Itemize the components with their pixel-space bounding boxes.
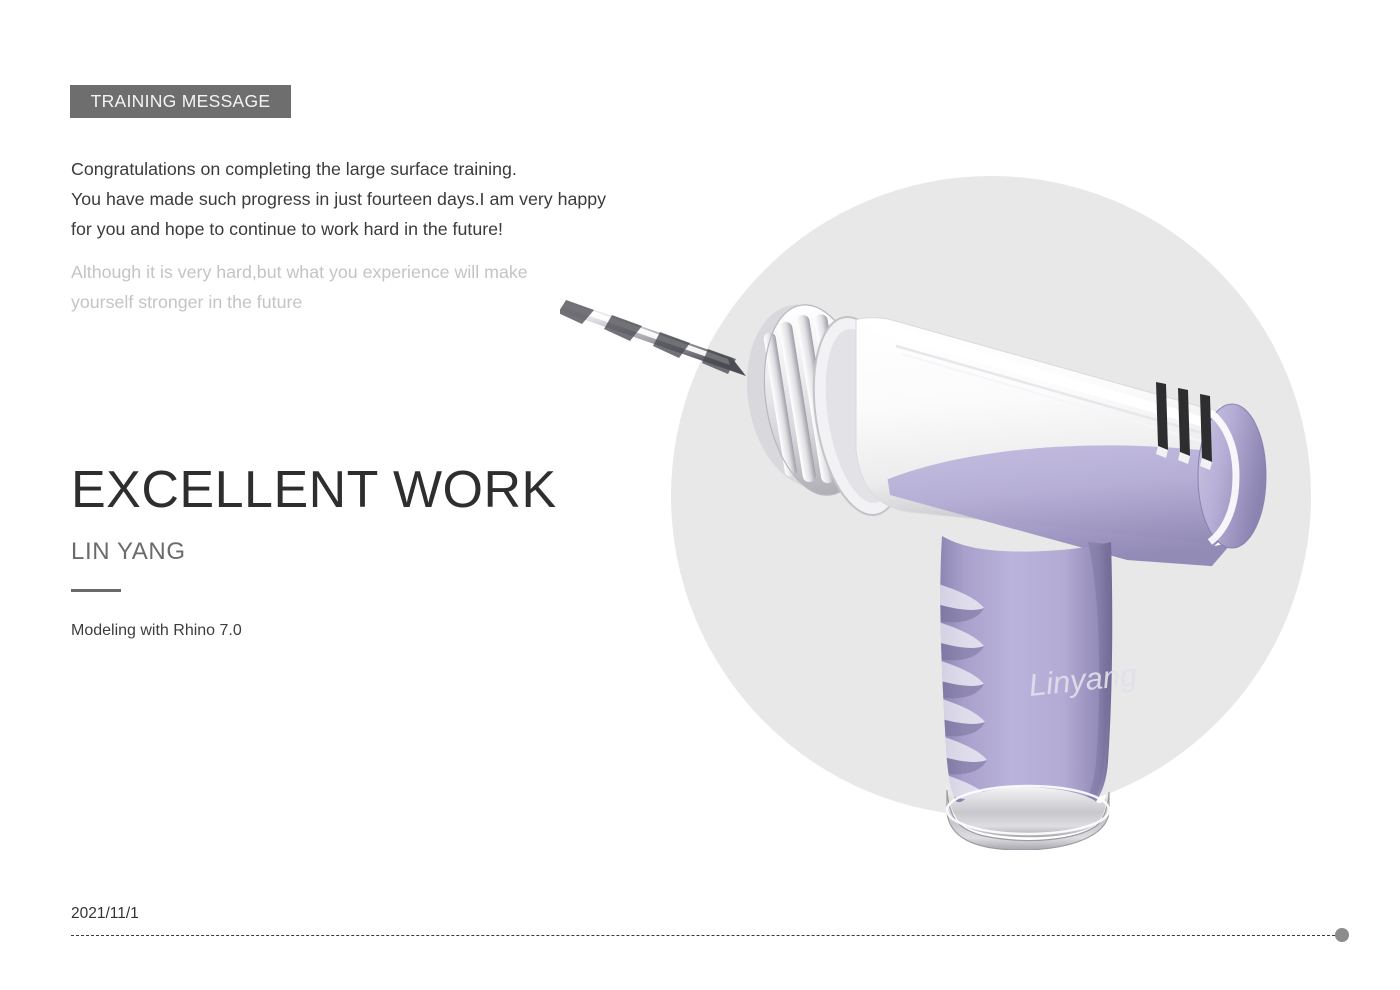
slide-root: TRAINING MESSAGE Congratulations on comp… bbox=[0, 0, 1400, 990]
badge-label: TRAINING MESSAGE bbox=[91, 91, 271, 112]
page-title: EXCELLENT WORK bbox=[71, 460, 557, 520]
footer-date: 2021/11/1 bbox=[71, 905, 139, 923]
training-message-badge: TRAINING MESSAGE bbox=[70, 85, 291, 118]
product-image: Linyang bbox=[560, 150, 1380, 850]
handle-base-ring bbox=[946, 782, 1109, 850]
title-divider bbox=[71, 589, 121, 592]
footer-end-dot bbox=[1335, 928, 1349, 942]
footer-dashed-line bbox=[71, 935, 1335, 936]
cordless-drill-illustration: Linyang bbox=[560, 150, 1380, 850]
software-caption: Modeling with Rhino 7.0 bbox=[71, 620, 557, 642]
ventilation-slots bbox=[1156, 382, 1212, 470]
headline-block: EXCELLENT WORK LIN YANG Modeling with Rh… bbox=[71, 460, 557, 642]
author-name: LIN YANG bbox=[71, 538, 557, 566]
